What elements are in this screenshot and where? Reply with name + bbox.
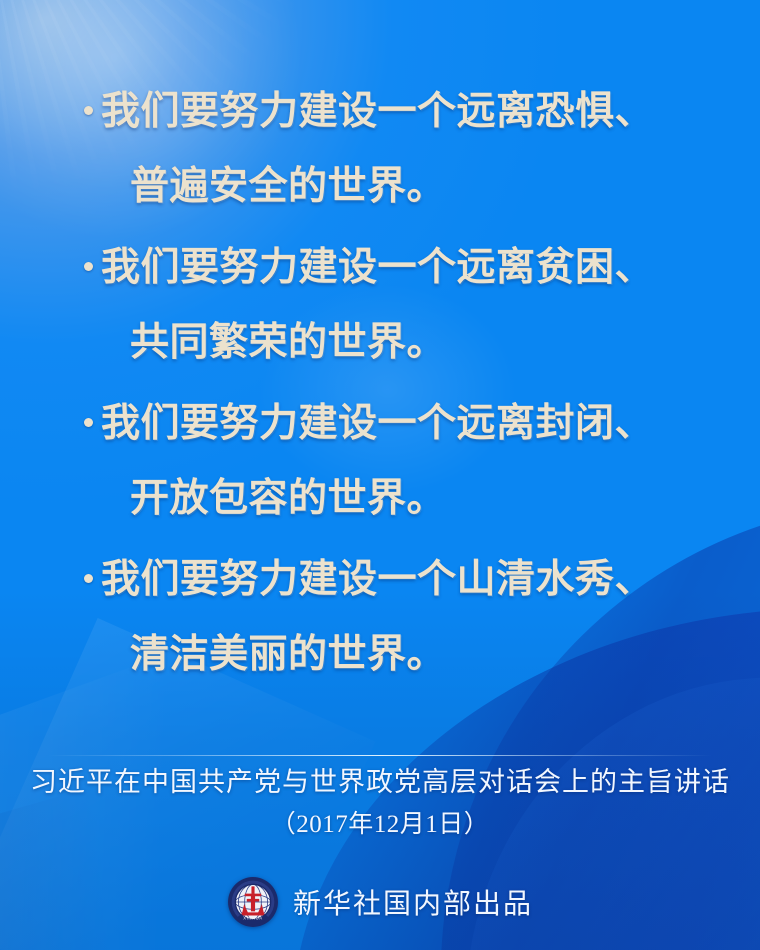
quote-line-secondary: 开放包容的世界。	[84, 479, 714, 518]
quote-line-primary: 我们要努力建设一个远离恐惧、	[84, 92, 714, 131]
quote-line-secondary: 共同繁荣的世界。	[84, 323, 714, 362]
xinhua-logo-icon: XINHUA	[227, 876, 279, 928]
brand-label: 新华社国内部出品	[293, 882, 533, 922]
footer-caption: 习近平在中国共产党与世界政党高层对话会上的主旨讲话 （2017年12月1日）	[0, 766, 760, 841]
svg-text:XINHUA: XINHUA	[243, 916, 262, 921]
quote-line-secondary: 清洁美丽的世界。	[84, 635, 714, 674]
quote-line-secondary: 普遍安全的世界。	[84, 167, 714, 206]
speech-date: （2017年12月1日）	[0, 809, 760, 842]
quote-item: 我们要努力建设一个远离封闭、 开放包容的世界。	[84, 404, 714, 518]
speech-source-title: 习近平在中国共产党与世界政党高层对话会上的主旨讲话	[0, 766, 760, 800]
bullet-dot-icon	[84, 574, 93, 583]
brand-row: XINHUA 新华社国内部出品	[0, 876, 760, 928]
quote-line-primary: 我们要努力建设一个远离贫困、	[84, 248, 714, 287]
bullet-dot-icon	[84, 106, 93, 115]
bullet-dot-icon	[84, 418, 93, 427]
bullet-dot-icon	[84, 262, 93, 271]
quote-item: 我们要努力建设一个远离贫困、 共同繁荣的世界。	[84, 248, 714, 362]
quote-line-primary-text: 我们要努力建设一个远离封闭、	[101, 404, 654, 443]
quote-item: 我们要努力建设一个远离恐惧、 普遍安全的世界。	[84, 92, 714, 206]
quote-line-primary: 我们要努力建设一个山清水秀、	[84, 560, 714, 599]
quote-line-primary: 我们要努力建设一个远离封闭、	[84, 404, 714, 443]
quote-line-primary-text: 我们要努力建设一个远离贫困、	[101, 248, 654, 287]
quote-list: 我们要努力建设一个远离恐惧、 普遍安全的世界。 我们要努力建设一个远离贫困、 共…	[0, 92, 760, 716]
quote-item: 我们要努力建设一个山清水秀、 清洁美丽的世界。	[84, 560, 714, 674]
quote-line-primary-text: 我们要努力建设一个远离恐惧、	[101, 92, 654, 131]
quote-line-primary-text: 我们要努力建设一个山清水秀、	[101, 560, 654, 599]
poster-canvas: 我们要努力建设一个远离恐惧、 普遍安全的世界。 我们要努力建设一个远离贫困、 共…	[0, 0, 760, 950]
